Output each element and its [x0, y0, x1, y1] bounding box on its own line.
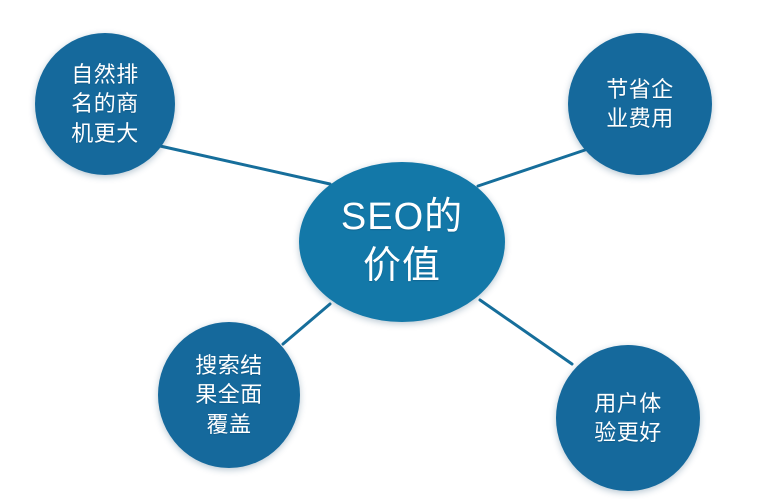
node-full-search-coverage[interactable]: 搜索结 果全面 覆盖	[158, 322, 300, 468]
node-better-user-experience[interactable]: 用户体 验更好	[556, 345, 700, 491]
node-label: 自然排 名的商 机更大	[67, 60, 143, 147]
edge-bottom-left	[283, 304, 330, 344]
node-save-enterprise-cost[interactable]: 节省企 业费用	[568, 33, 712, 175]
edge-top-left	[160, 146, 330, 184]
node-label: SEO的 价值	[337, 193, 467, 290]
node-organic-ranking-opportunity[interactable]: 自然排 名的商 机更大	[35, 33, 175, 175]
node-label: 节省企 业费用	[602, 75, 678, 133]
diagram-canvas: 自然排 名的商 机更大 节省企 业费用 搜索结 果全面 覆盖 用户体 验更好 S…	[0, 0, 758, 499]
edge-bottom-right	[480, 300, 572, 364]
node-label: 搜索结 果全面 覆盖	[191, 351, 267, 438]
node-label: 用户体 验更好	[590, 389, 666, 447]
node-seo-value[interactable]: SEO的 价值	[299, 162, 505, 322]
edge-top-right	[478, 150, 585, 186]
